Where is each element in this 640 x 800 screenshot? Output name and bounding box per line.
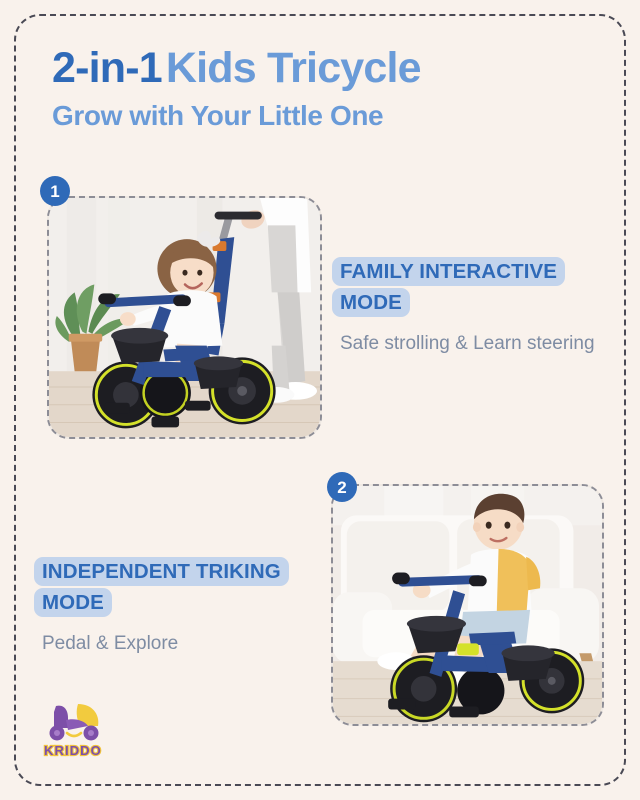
mode-title-wrap-2: INDEPENDENT TRIKING MODE — [34, 556, 314, 618]
headline: 2-in-1Kids Tricycle — [52, 46, 592, 92]
subheadline: Grow with Your Little One — [52, 101, 592, 132]
tricycle-logo-icon — [44, 700, 106, 742]
headline-light: Kids Tricycle — [166, 44, 421, 92]
mode-title-1: FAMILY INTERACTIVE MODE — [332, 257, 565, 317]
brand-logo: KRIDDO — [40, 700, 150, 758]
mode-description-2: Pedal & Explore — [34, 631, 314, 657]
feature-text-2: INDEPENDENT TRIKING MODE Pedal & Explore — [34, 556, 314, 658]
headline-strong: 2-in-1 — [52, 44, 162, 92]
feature-photo-2 — [331, 484, 604, 726]
page-title: 2-in-1Kids Tricycle Grow with Your Littl… — [52, 46, 592, 131]
mode-description-1: Safe strolling & Learn steering — [332, 331, 597, 357]
step-badge-2: 2 — [327, 472, 357, 502]
feature-text-1: FAMILY INTERACTIVE MODE Safe strolling &… — [332, 256, 597, 358]
step-badge-1: 1 — [40, 176, 70, 206]
mode-title-2: INDEPENDENT TRIKING MODE — [34, 557, 289, 617]
feature-photo-1 — [47, 196, 322, 439]
mode-title-wrap-1: FAMILY INTERACTIVE MODE — [332, 256, 597, 318]
brand-name: KRIDDO — [44, 743, 150, 758]
